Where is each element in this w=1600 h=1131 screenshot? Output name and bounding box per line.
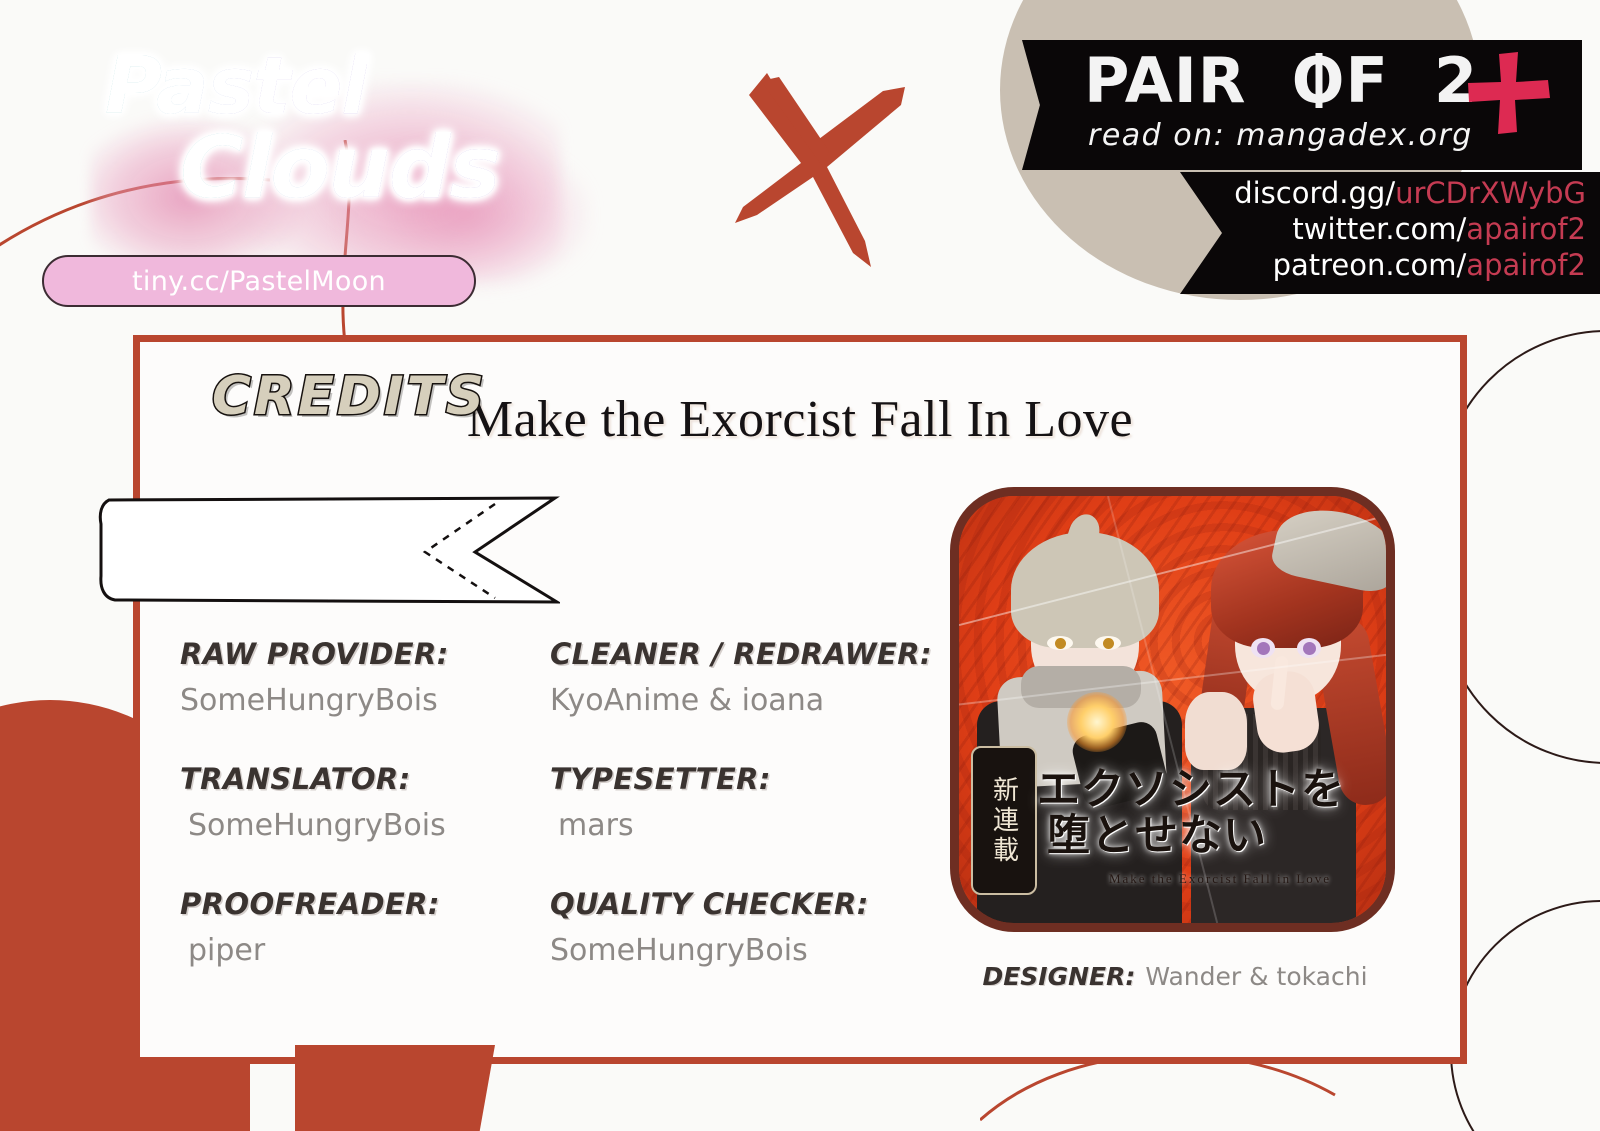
link-twitter-base: twitter.com/: [1292, 212, 1466, 246]
link-discord-handle: urCDrXWybG: [1395, 176, 1586, 210]
credit-name: piper: [180, 933, 530, 968]
plus-mark-icon: [1466, 50, 1552, 136]
cover-title-japanese: エクソシストを 堕とせない: [1037, 768, 1387, 859]
credit-role: TYPESETTER:: [550, 762, 950, 796]
partner-title-part2: F: [1345, 44, 1388, 117]
link-patreon[interactable]: patreon.com/apairof2: [1273, 248, 1586, 282]
credit-role: PROOFREADER:: [180, 887, 530, 921]
credit-name: SomeHungryBois: [180, 808, 530, 843]
credit-entry: CLEANER / REDRAWER: KyoAnime & ioana: [550, 637, 950, 718]
partner-title: PAIR OF 2: [1084, 44, 1478, 117]
credit-name: mars: [550, 808, 950, 843]
cover-badge: 新連載: [971, 746, 1037, 895]
partner-title-part1: PAIR: [1084, 44, 1247, 117]
credit-name: SomeHungryBois: [180, 683, 530, 718]
poster-stage: Pastel Clouds tiny.cc/PastelMoon PAIR OF…: [0, 0, 1600, 1131]
o-slash-glyph: O: [1292, 44, 1346, 117]
series-cover-art: 新連載 エクソシストを 堕とせない Make the Exorcist Fall…: [950, 487, 1395, 932]
link-twitter[interactable]: twitter.com/apairof2: [1292, 212, 1586, 246]
credit-entry: RAW PROVIDER: SomeHungryBois: [180, 637, 530, 718]
short-link-text: tiny.cc/PastelMoon: [132, 266, 386, 297]
credits-ribbon: [95, 490, 560, 608]
credit-name: KyoAnime & ioana: [550, 683, 950, 718]
credit-entry: PROOFREADER: piper: [180, 887, 530, 968]
credit-entry: TYPESETTER: mars: [550, 762, 950, 843]
designer-role: DESIGNER:: [982, 962, 1135, 991]
partner-banner-links: discord.gg/urCDrXWybG twitter.com/apairo…: [1180, 172, 1600, 294]
credit-entry: TRANSLATOR: SomeHungryBois: [180, 762, 530, 843]
link-discord[interactable]: discord.gg/urCDrXWybG: [1234, 176, 1586, 210]
credit-role: CLEANER / REDRAWER:: [550, 637, 950, 671]
cover-title-jp-line1: エクソシストを: [1037, 768, 1387, 814]
cover-title-jp-line2: 堕とせない: [1037, 814, 1387, 860]
credits-column-left: RAW PROVIDER: SomeHungryBois TRANSLATOR:…: [180, 637, 530, 1012]
credit-name: SomeHungryBois: [550, 933, 950, 968]
partner-banner-top: PAIR OF 2 read on: mangadex.org: [1022, 40, 1582, 170]
designer-credit: DESIGNER:Wander & tokachi: [950, 962, 1400, 991]
short-link-pill[interactable]: tiny.cc/PastelMoon: [42, 255, 476, 307]
outline-pill-decoration-2: [1450, 900, 1600, 1131]
link-twitter-handle: apairof2: [1466, 212, 1586, 246]
credit-role: TRANSLATOR:: [180, 762, 530, 796]
link-patreon-handle: apairof2: [1466, 248, 1586, 282]
credit-role: QUALITY CHECKER:: [550, 887, 950, 921]
cover-title-romaji: Make the Exorcist Fall in Love: [1055, 871, 1385, 887]
link-patreon-base: patreon.com/: [1273, 248, 1467, 282]
credits-card: Make the Exorcist Fall In Love CREDITS R…: [133, 335, 1467, 1064]
credits-ribbon-label: CREDITS: [212, 366, 487, 427]
brush-x-icon: [705, 55, 925, 285]
credits-column-right: CLEANER / REDRAWER: KyoAnime & ioana TYP…: [550, 637, 950, 1012]
logo-line-2: Clouds: [180, 118, 500, 218]
link-discord-base: discord.gg/: [1234, 176, 1395, 210]
credit-role: RAW PROVIDER:: [180, 637, 530, 671]
read-on-text: read on: mangadex.org: [1088, 118, 1473, 153]
designer-name: Wander & tokachi: [1145, 962, 1367, 991]
credit-entry: QUALITY CHECKER: SomeHungryBois: [550, 887, 950, 968]
